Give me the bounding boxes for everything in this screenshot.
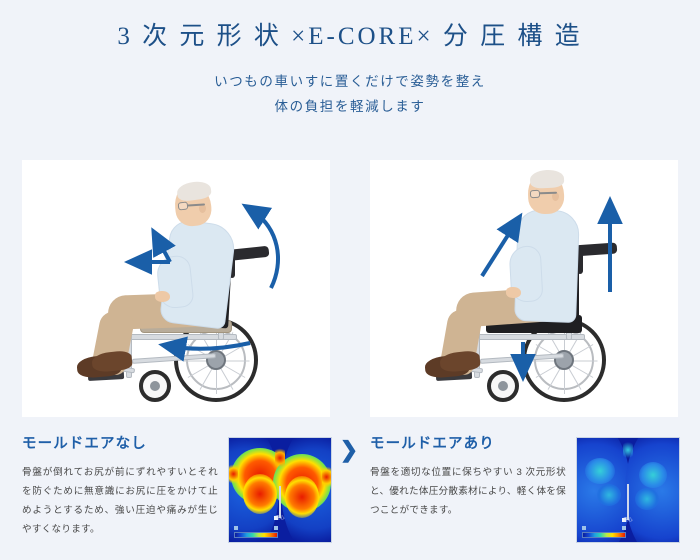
header: 3 次 元 形 状 ×E-CORE× 分 圧 構 造 いつもの車いすに置くだけで… bbox=[0, 0, 700, 120]
caption-body-without: 骨盤が倒れてお尻が前にずれやすいとそれを防ぐために無意識にお尻に圧をかけて止めよ… bbox=[22, 464, 218, 539]
pressure-legend bbox=[234, 525, 278, 538]
person-hand bbox=[506, 287, 521, 298]
page-subtitle: いつもの車いすに置くだけで姿勢を整え 体の負担を軽減します bbox=[0, 70, 700, 120]
caption-heading-with: モールドエアあり bbox=[370, 436, 566, 453]
caption-text-with: モールドエアあり 骨盤を適切な位置に保ちやすい 3 次元形状と、優れた体圧分散素… bbox=[370, 436, 566, 521]
caption-with: モールドエアあり 骨盤を適切な位置に保ちやすい 3 次元形状と、優れた体圧分散素… bbox=[370, 436, 678, 554]
caption-body-with: 骨盤を適切な位置に保ちやすい 3 次元形状と、優れた体圧分散素材により、軽く体を… bbox=[370, 464, 566, 520]
wheel-caster-icon bbox=[139, 370, 171, 402]
subtitle-line-1: いつもの車いすに置くだけで姿勢を整え bbox=[0, 70, 700, 95]
person-hair bbox=[530, 169, 565, 189]
wheelchair-scene-with bbox=[370, 160, 678, 417]
page-title: 3 次 元 形 状 ×E-CORE× 分 圧 構 造 bbox=[0, 22, 700, 52]
caption-heading-without: モールドエアなし bbox=[22, 436, 218, 453]
pressure-map-with: 重心 bbox=[576, 437, 680, 543]
person-hand bbox=[155, 291, 170, 302]
caption-without: モールドエアなし 骨盤が倒れてお尻が前にずれやすいとそれを防ぐために無意識にお尻… bbox=[22, 436, 330, 554]
comparison-column-with: モールドエアあり 骨盤を適切な位置に保ちやすい 3 次元形状と、優れた体圧分散素… bbox=[370, 160, 678, 554]
photo-panel-with bbox=[370, 160, 678, 417]
caption-text-without: モールドエアなし 骨盤が倒れてお尻が前にずれやすいとそれを防ぐために無意識にお尻… bbox=[22, 436, 218, 539]
comparison-arrow-icon: ❯ bbox=[339, 438, 359, 462]
wheelchair-scene-without bbox=[22, 160, 330, 417]
pressure-map-without: 重心 bbox=[228, 437, 332, 543]
wheel-caster-icon bbox=[487, 370, 519, 402]
photo-panel-without bbox=[22, 160, 330, 417]
subtitle-line-2: 体の負担を軽減します bbox=[0, 95, 700, 120]
comparison-section: モールドエアなし 骨盤が倒れてお尻が前にずれやすいとそれを防ぐために無意識にお尻… bbox=[0, 160, 700, 560]
pressure-legend bbox=[582, 525, 626, 538]
comparison-column-without: モールドエアなし 骨盤が倒れてお尻が前にずれやすいとそれを防ぐために無意識にお尻… bbox=[22, 160, 330, 554]
